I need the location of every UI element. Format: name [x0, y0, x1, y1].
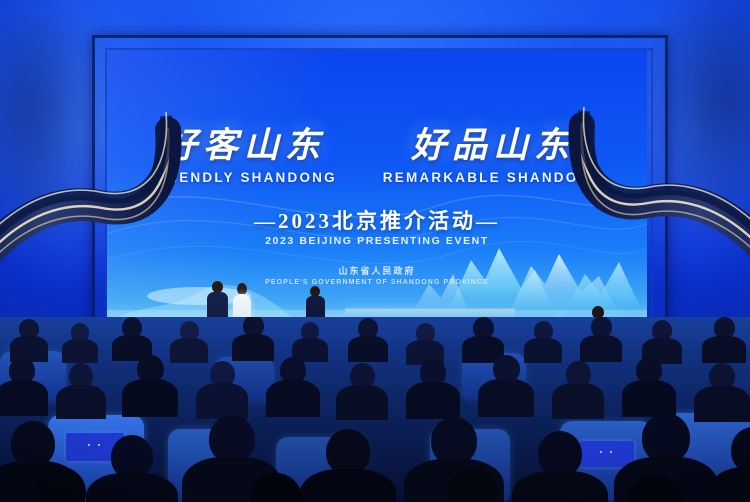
headline-cn-1: 好客山东: [151, 128, 337, 163]
audience-person: [86, 435, 178, 502]
audience-person: [196, 361, 248, 419]
audience-person: [708, 427, 750, 502]
audience-person: [10, 319, 48, 362]
conference-stage-photo: 好客山东 FRIENDLY SHANDONG 好品山东 REMARKABLE S…: [0, 0, 750, 502]
audience-person: [122, 355, 178, 417]
audience-person: [622, 357, 676, 417]
headline-en-1: FRIENDLY SHANDONG: [151, 170, 337, 185]
audience-person: [406, 359, 460, 419]
audience-person: [36, 467, 86, 502]
headline-en-2: REMARKABLE SHANDONG: [383, 170, 603, 185]
audience-person: [478, 355, 534, 417]
audience-person: [628, 475, 682, 502]
organizer-cn: 山东省人民政府: [107, 264, 647, 277]
audience-person: [580, 317, 622, 362]
headline-remarkable-shandong: 好品山东 REMARKABLE SHANDONG: [383, 128, 603, 185]
event-title-en: 2023 BEIJING PRESENTING EVENT: [107, 235, 647, 247]
audience-person: [348, 318, 388, 362]
audience-person: [300, 429, 396, 502]
audience-person: [250, 473, 302, 502]
screen-headline-row: 好客山东 FRIENDLY SHANDONG 好品山东 REMARKABLE S…: [107, 128, 647, 185]
audience-person: [552, 361, 604, 419]
headline-friendly-shandong: 好客山东 FRIENDLY SHANDONG: [151, 128, 337, 185]
headline-cn-2: 好品山东: [383, 128, 603, 163]
audience-person: [512, 431, 608, 502]
audience-person: [232, 317, 274, 361]
audience-person: [56, 363, 106, 419]
audience-person: [0, 357, 48, 416]
led-screen: 好客山东 FRIENDLY SHANDONG 好品山东 REMARKABLE S…: [107, 50, 647, 328]
audience-person: [62, 323, 98, 363]
audience-person: [702, 317, 746, 363]
event-title-cn: —2023北京推介活动—: [107, 205, 647, 235]
audience-person: [266, 357, 320, 417]
audience-person: [292, 322, 328, 362]
organizer-en: PEOPLE'S GOVERNMENT OF SHANDONG PROVINCE: [107, 279, 647, 286]
audience-person: [448, 469, 498, 502]
audience-area: [0, 317, 750, 502]
audience-person: [336, 363, 388, 420]
